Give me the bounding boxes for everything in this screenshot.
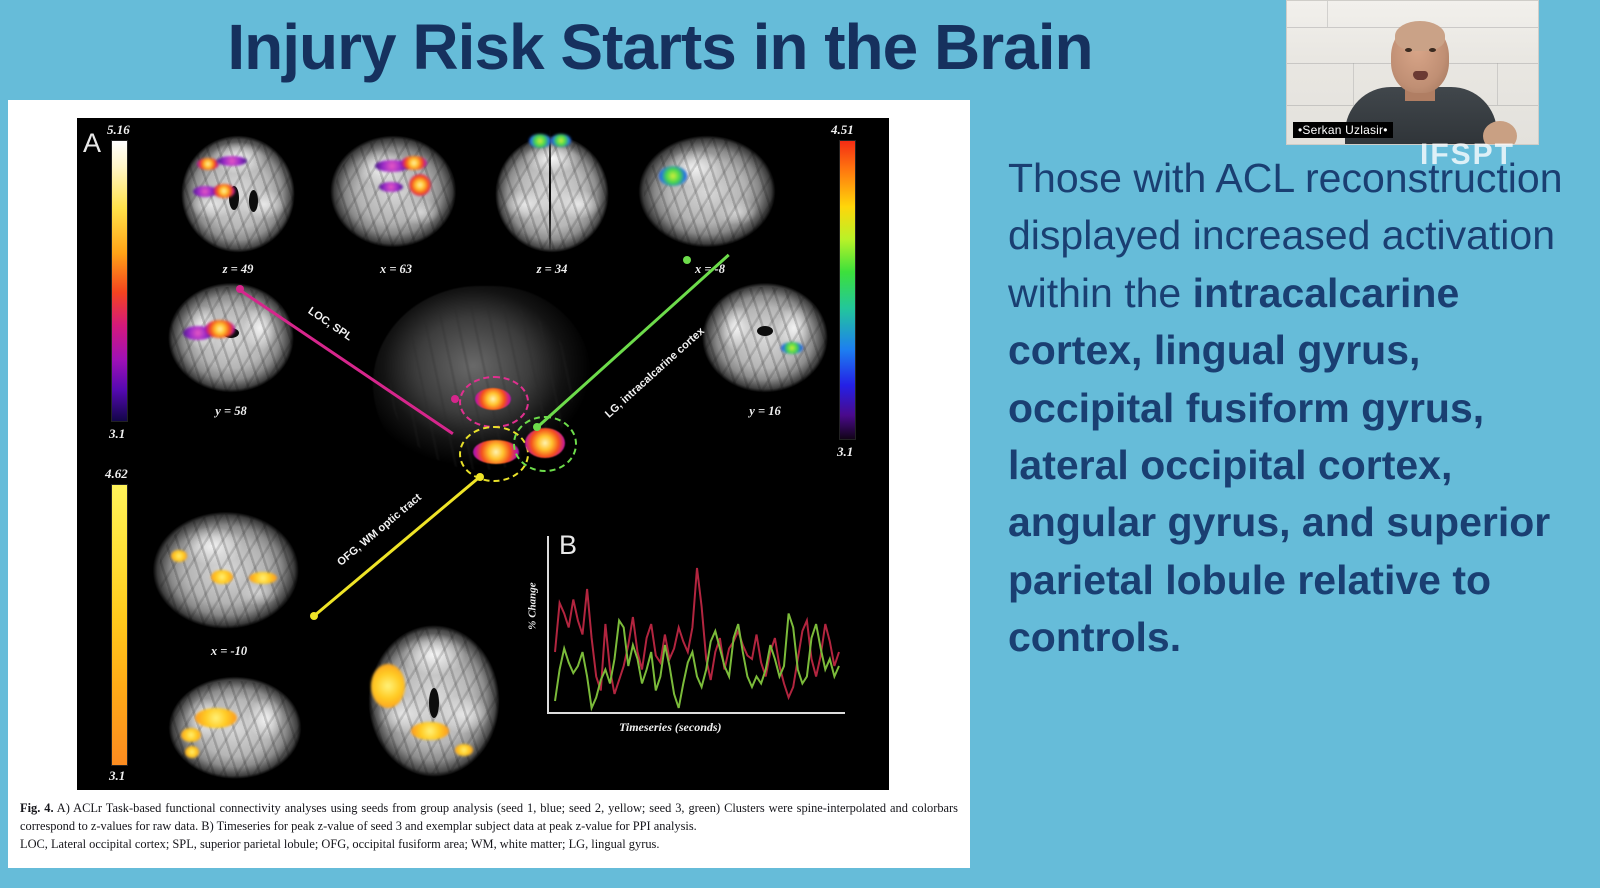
- rainbow-colorbar-max-label: 4.51: [831, 122, 854, 138]
- midline: [549, 130, 551, 250]
- brick-line: [1327, 1, 1328, 27]
- rainbow-colorbar: [839, 140, 856, 440]
- slice-label-y16: y = 16: [693, 404, 837, 419]
- speaker-hair: [1395, 21, 1445, 51]
- caption-main: Fig. 4. A) ACLr Task-based functional co…: [20, 800, 958, 836]
- brain-slice-axial-zm6: [359, 618, 509, 784]
- activation-blob: [455, 744, 473, 756]
- caption-abbreviations: LOC, Lateral occipital cortex; SPL, supe…: [20, 836, 958, 854]
- panel-b-timeseries-chart: B % Change Timeseries (seconds): [529, 530, 849, 740]
- ventricle: [249, 190, 258, 212]
- hot-colorbar-max-label: 5.16: [107, 122, 130, 138]
- brain-slice-coronal-y48: [159, 674, 311, 786]
- cluster-ring-pink: [459, 376, 529, 428]
- presentation-slide: Injury Risk Starts in the Brain •Serkan …: [0, 0, 1600, 888]
- ventricle: [757, 326, 773, 336]
- body-text-regions: intracalcarine cortex, lingual gyrus, oc…: [1008, 270, 1550, 660]
- yellow-colorbar-min-label: 3.1: [109, 768, 125, 784]
- cluster-ring-green: [513, 416, 577, 472]
- activation-blob: [211, 570, 233, 584]
- brain-sulci: [644, 138, 776, 251]
- figure-card: A 5.16 3.1 4.62 3.1 4.51 3.1: [8, 100, 970, 868]
- slice-label-z49: z = 49: [173, 262, 303, 277]
- brain-slice-axial-z34: [487, 130, 617, 258]
- yellow-colorbar-max-label: 4.62: [105, 466, 128, 482]
- brain-slice-sagittal-x63: [327, 130, 465, 258]
- slice-label-zm6: z = -6: [359, 788, 509, 790]
- activation-blob: [411, 722, 449, 740]
- speaker-mouth: [1413, 71, 1428, 80]
- chart-y-axis-label: % Change: [527, 582, 539, 629]
- chart-plot-area: [547, 530, 847, 716]
- activation-blob: [205, 320, 235, 338]
- activation-blob: [213, 184, 235, 198]
- caption-text: A) ACLr Task-based functional connectivi…: [20, 801, 958, 833]
- speaker-eye-right: [1429, 48, 1436, 52]
- connector-anchor-ofg: [476, 473, 484, 481]
- activation-blob: [217, 156, 247, 166]
- activation-blob: [401, 156, 427, 170]
- yellow-colorbar: [111, 484, 128, 766]
- speaker-eye-left: [1405, 48, 1412, 52]
- panel-a-letter: A: [83, 128, 101, 159]
- slice-label-xm10: x = -10: [149, 644, 309, 659]
- webcam-overlay[interactable]: •Serkan Uzlasir•: [1286, 0, 1539, 145]
- activation-blob: [181, 728, 201, 742]
- figure-caption: Fig. 4. A) ACLr Task-based functional co…: [20, 800, 958, 854]
- brain-slice-sagittal-xm10: [149, 506, 309, 640]
- brain-sulci: [702, 287, 829, 393]
- activation-blob: [249, 572, 277, 584]
- activation-blob: [379, 182, 403, 192]
- ventricle: [429, 688, 439, 718]
- brain-slice-sagittal-xm8: [635, 130, 785, 258]
- brain-slice-coronal-y58: [159, 280, 303, 400]
- brain-figure-panel: A 5.16 3.1 4.62 3.1 4.51 3.1: [77, 118, 889, 790]
- activation-blob: [551, 134, 571, 147]
- activation-blob: [197, 158, 219, 170]
- connector-endpoint-lg: [683, 256, 691, 264]
- connector-label-lg: LG, intracalcarine cortex: [603, 325, 707, 420]
- caption-fig-number: Fig. 4.: [20, 801, 54, 815]
- brick-line: [1353, 63, 1354, 105]
- connector-label-ofg: OFG, WM optic tract: [335, 491, 424, 568]
- activation-blob: [185, 746, 199, 758]
- activation-blob: [529, 134, 551, 148]
- slice-label-z34: z = 34: [487, 262, 617, 277]
- brain-sulci: [168, 287, 295, 393]
- activation-blob: [659, 166, 687, 186]
- activation-blob: [195, 708, 237, 728]
- hot-colorbar: [111, 140, 128, 422]
- brain-slice-coronal-y16: [693, 280, 837, 400]
- series-line-exemplar: [555, 614, 839, 709]
- connector-line-ofg: [313, 476, 480, 617]
- activation-blob: [371, 664, 405, 708]
- slice-label-x63: x = 63: [327, 262, 465, 277]
- brain-sulci: [495, 138, 609, 251]
- page-title: Injury Risk Starts in the Brain: [0, 14, 1320, 81]
- slice-label-y58: y = 58: [159, 404, 303, 419]
- activation-blob: [409, 174, 431, 196]
- activation-blob: [171, 550, 187, 562]
- connector-anchor-lg: [533, 423, 541, 431]
- brick-line: [1497, 63, 1498, 105]
- connector-endpoint-ofg: [310, 612, 318, 620]
- speaker-name-label: •Serkan Uzlasir•: [1293, 122, 1393, 138]
- rainbow-colorbar-min-label: 3.1: [837, 444, 853, 460]
- connector-anchor-loc-spl: [451, 395, 459, 403]
- slide-body-text: Those with ACL reconstruction displayed …: [1008, 150, 1564, 667]
- hot-colorbar-min-label: 3.1: [109, 426, 125, 442]
- brain-slice-axial-z49: [173, 130, 303, 258]
- activation-blob: [781, 342, 803, 354]
- brain-sulci: [335, 138, 456, 251]
- connector-endpoint-loc-spl: [236, 285, 244, 293]
- chart-x-axis-label: Timeseries (seconds): [619, 720, 722, 735]
